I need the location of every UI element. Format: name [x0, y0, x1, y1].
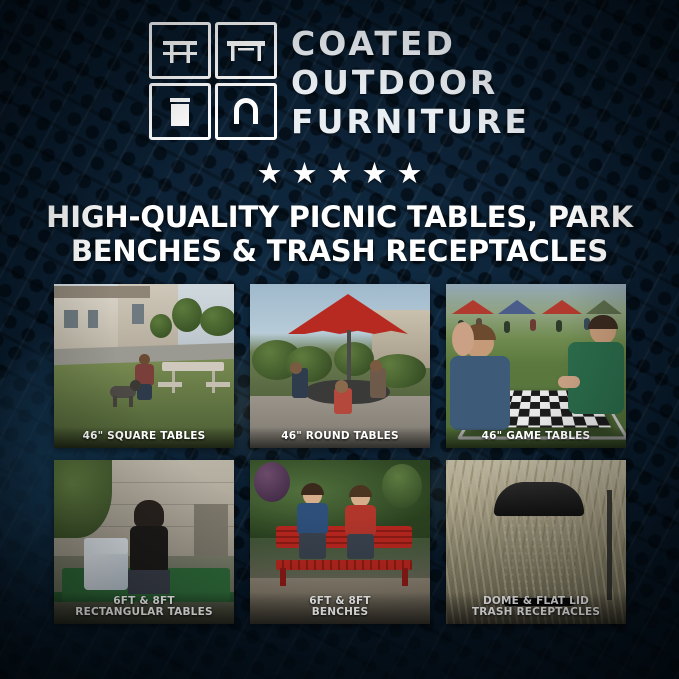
product-grid: 46" SQUARE TABLES: [54, 284, 626, 624]
trash-can-icon: [149, 83, 211, 140]
brand-word-2: OUTDOOR: [291, 65, 530, 102]
product-caption: 46" ROUND TABLES: [250, 427, 430, 448]
star-rating: ★ ★ ★ ★ ★: [0, 160, 679, 189]
product-photo-game-tables: [446, 284, 626, 448]
page-title: HIGH-QUALITY PICNIC TABLES, PARK BENCHES…: [0, 200, 679, 268]
caption-line-2: TRASH RECEPTACLES: [449, 607, 623, 619]
brand-header: COATED OUTDOOR FURNITURE: [0, 22, 679, 141]
star-icon: ★: [327, 160, 353, 189]
product-photo-square-tables: [54, 284, 234, 448]
product-caption: DOME & FLAT LID TRASH RECEPTACLES: [446, 592, 626, 625]
product-caption: 46" GAME TABLES: [446, 427, 626, 448]
brand-logo-mark: [149, 22, 277, 140]
product-poster: COATED OUTDOOR FURNITURE ★ ★ ★ ★ ★ HIGH-…: [0, 0, 679, 679]
product-card-square-tables[interactable]: 46" SQUARE TABLES: [54, 284, 234, 448]
headline-line-2: BENCHES & TRASH RECEPTACLES: [28, 234, 651, 268]
headline-line-1: HIGH-QUALITY PICNIC TABLES, PARK: [28, 200, 651, 234]
picnic-table-icon: [149, 22, 211, 79]
product-card-trash-receptacles[interactable]: DOME & FLAT LID TRASH RECEPTACLES: [446, 460, 626, 624]
product-caption: 46" SQUARE TABLES: [54, 427, 234, 448]
product-caption: 6FT & 8FT RECTANGULAR TABLES: [54, 592, 234, 625]
product-card-round-tables[interactable]: 46" ROUND TABLES: [250, 284, 430, 448]
caption-line-1: 46" ROUND TABLES: [253, 431, 427, 443]
arch-bench-icon: [215, 83, 277, 140]
caption-line-2: RECTANGULAR TABLES: [57, 607, 231, 619]
star-icon: ★: [362, 160, 388, 189]
star-icon: ★: [397, 160, 423, 189]
caption-line-1: 46" SQUARE TABLES: [57, 431, 231, 443]
star-icon: ★: [257, 160, 283, 189]
brand-word-1: COATED: [291, 26, 530, 63]
brand-wordmark: COATED OUTDOOR FURNITURE: [291, 22, 530, 141]
product-caption: 6FT & 8FT BENCHES: [250, 592, 430, 625]
caption-line-1: 46" GAME TABLES: [449, 431, 623, 443]
product-photo-round-tables: [250, 284, 430, 448]
product-card-rectangular-tables[interactable]: 6FT & 8FT RECTANGULAR TABLES: [54, 460, 234, 624]
brand-word-3: FURNITURE: [291, 104, 530, 141]
bench-icon: [215, 22, 277, 79]
product-card-game-tables[interactable]: 46" GAME TABLES: [446, 284, 626, 448]
star-icon: ★: [292, 160, 318, 189]
product-card-benches[interactable]: 6FT & 8FT BENCHES: [250, 460, 430, 624]
caption-line-2: BENCHES: [253, 607, 427, 619]
